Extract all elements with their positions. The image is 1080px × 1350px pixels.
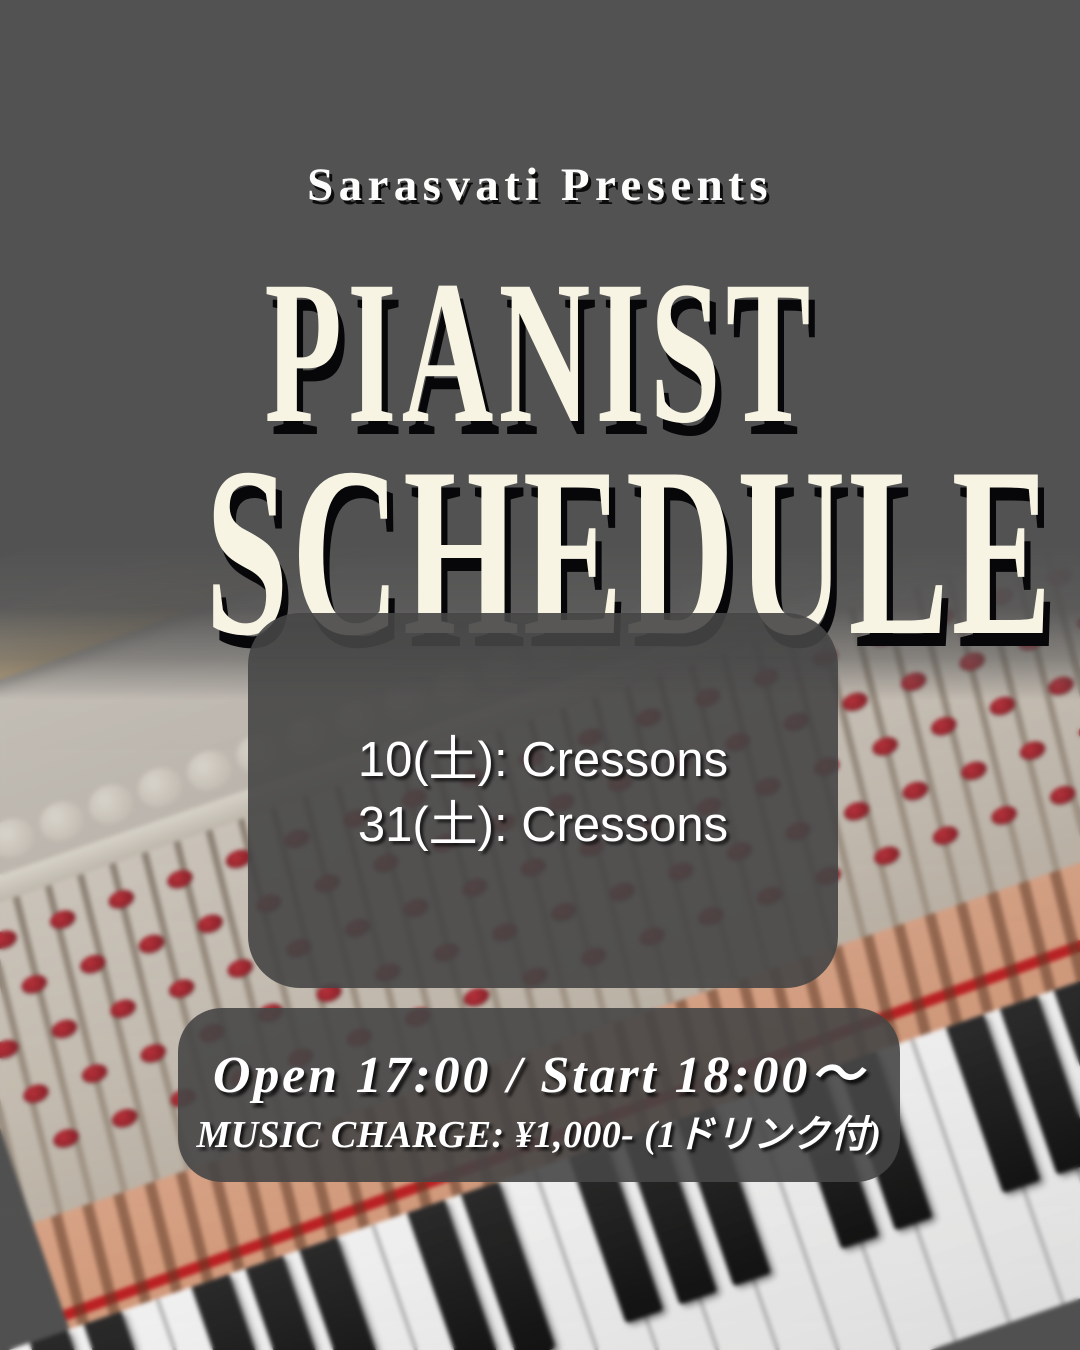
schedule-list: 10(土): Cressons 31(土): Cressons [248, 728, 838, 857]
presenter-line: Sarasvati Presents [0, 158, 1080, 212]
list-item: 10(土): Cressons [248, 728, 838, 793]
open-start-time: Open 17:00 / Start 18:00〜 [178, 1032, 900, 1107]
page-title: PIANIST SCHEDULE [0, 252, 1080, 673]
pianist-schedule-poster: Sarasvati Presents PIANIST SCHEDULE 10(土… [0, 0, 1080, 1350]
music-charge: MUSIC CHARGE: ¥1,000- (1ドリンク付) [178, 1103, 900, 1158]
list-item: 31(土): Cressons [248, 793, 838, 858]
